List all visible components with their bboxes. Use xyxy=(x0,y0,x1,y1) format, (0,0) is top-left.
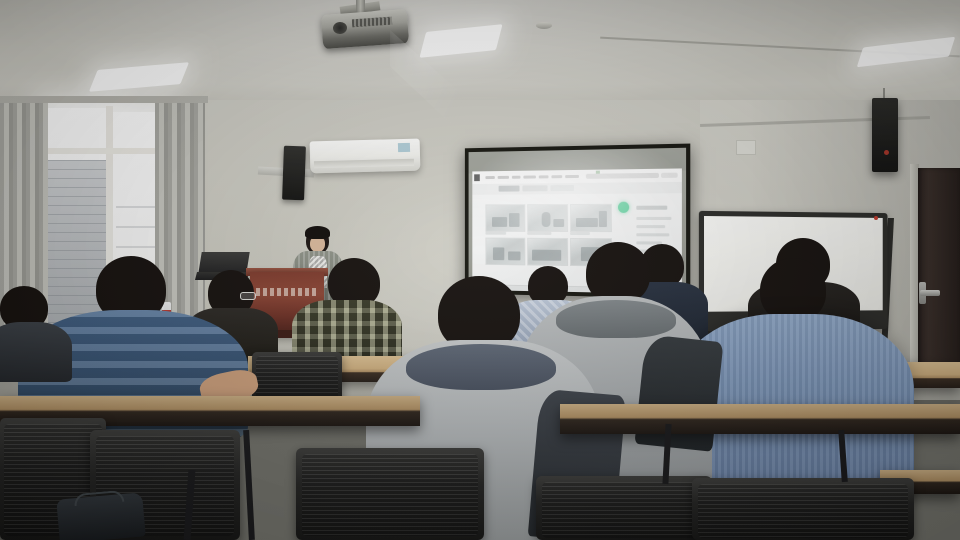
attendee-head xyxy=(760,258,826,322)
chair-mesh xyxy=(302,454,478,536)
attendee-body xyxy=(0,322,72,382)
podium-inscription xyxy=(256,288,318,296)
menu-item[interactable] xyxy=(498,176,509,179)
curtain-rail xyxy=(0,96,208,103)
panel-title xyxy=(636,206,667,210)
menu-item[interactable] xyxy=(523,175,536,178)
thumbnail-tile[interactable] xyxy=(527,238,568,266)
address-bar[interactable] xyxy=(586,173,659,179)
chair-leg xyxy=(243,430,255,540)
attendee-arm xyxy=(634,334,723,452)
thumbnail-tile[interactable] xyxy=(527,204,568,232)
status-badge xyxy=(618,202,629,213)
hoodie-hood xyxy=(406,344,556,390)
whiteboard-magnet-icon xyxy=(874,216,878,220)
door-handle-icon[interactable] xyxy=(920,290,940,296)
tab-1[interactable] xyxy=(499,186,520,192)
thumbnail-caption xyxy=(527,232,551,235)
thumbnail-tile[interactable] xyxy=(570,204,612,232)
door[interactable] xyxy=(918,168,960,378)
thumbnail-tile[interactable] xyxy=(485,204,525,232)
hoodie-hood xyxy=(556,300,676,338)
menu-item[interactable] xyxy=(485,176,494,179)
tab-2[interactable] xyxy=(522,185,547,191)
smoke-detector-icon xyxy=(536,22,552,29)
thumbnail-caption xyxy=(485,232,506,235)
window-mullion-horizontal xyxy=(44,148,166,154)
chair-mesh xyxy=(542,482,706,538)
panel-row xyxy=(636,233,669,236)
thumbnail-tile[interactable] xyxy=(485,238,525,266)
chair-mesh xyxy=(698,484,908,538)
browser-logo-icon xyxy=(474,174,480,181)
wall-junction-box xyxy=(736,140,756,155)
classroom-scene xyxy=(0,0,960,540)
toolbar-buttons[interactable] xyxy=(661,173,678,178)
menu-item[interactable] xyxy=(551,175,562,178)
desk-row-front-right xyxy=(560,404,960,434)
menu-item[interactable] xyxy=(539,175,549,178)
speaker-icon xyxy=(282,146,306,201)
panel-row xyxy=(636,217,671,220)
menu-item[interactable] xyxy=(512,176,521,179)
ac-display-badge xyxy=(398,143,410,152)
tab-3[interactable] xyxy=(550,185,574,191)
menu-item[interactable] xyxy=(565,175,579,178)
speaker-icon xyxy=(872,98,898,172)
presenter-hair xyxy=(305,226,330,239)
attendee-head xyxy=(586,242,650,304)
eyeglasses-icon xyxy=(240,292,256,300)
panel-row xyxy=(636,225,665,228)
thumbnail-caption xyxy=(570,232,590,235)
speaker-power-led-icon xyxy=(884,150,889,155)
